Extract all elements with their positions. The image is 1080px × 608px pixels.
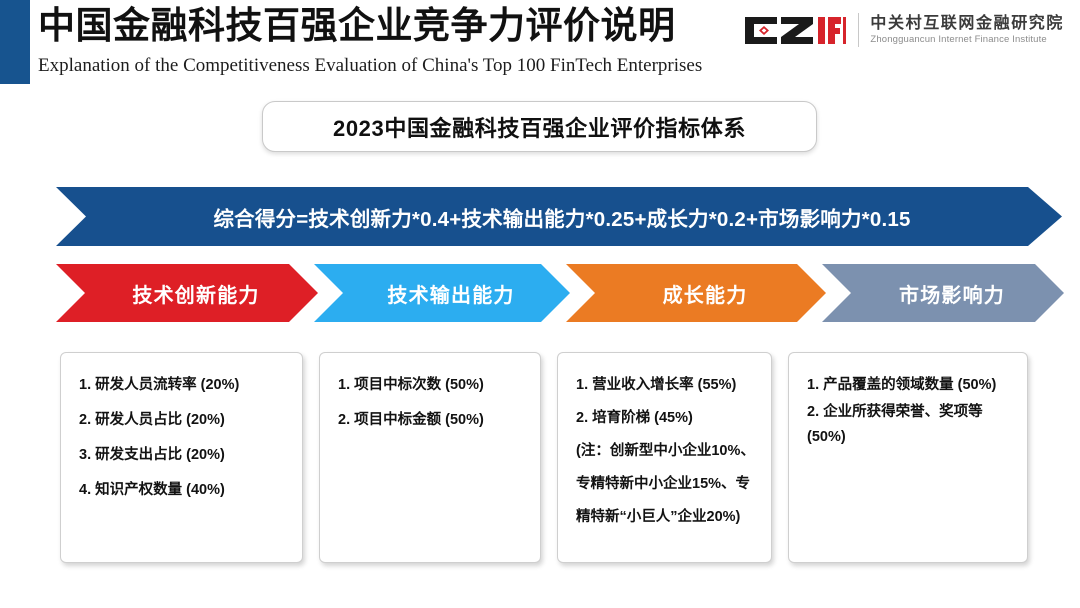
dimension-chevron-market-influence[interactable]: 市场影响力 <box>822 264 1064 322</box>
logo-divider <box>858 13 859 47</box>
detail-line: (注：创新型中小企业10%、 <box>576 443 755 460</box>
page-title: 中国金融科技百强企业竞争力评价说明 <box>38 4 738 50</box>
detail-line: 3. 研发支出占比 (20%) <box>79 447 286 464</box>
dimension-label: 技术创新能力 <box>132 279 259 308</box>
detail-line: 1. 研发人员流转率 (20%) <box>79 377 286 394</box>
dimension-label: 成长能力 <box>663 279 748 308</box>
index-system-title-box: 2023中国金融科技百强企业评价指标体系 <box>262 101 817 152</box>
header-title-group: 中国金融科技百强企业竞争力评价说明 Explanation of the Com… <box>38 4 738 79</box>
detail-line: 1. 项目中标次数 (50%) <box>338 377 524 394</box>
detail-line: 2. 培育阶梯 (45%) <box>576 410 755 427</box>
detail-line: (50%) <box>807 429 1011 446</box>
header-accent-bar <box>0 0 30 84</box>
composite-score-formula-banner: 综合得分=技术创新力*0.4+技术输出能力*0.25+成长力*0.2+市场影响力… <box>56 187 1062 246</box>
index-system-title: 2023中国金融科技百强企业评价指标体系 <box>333 111 746 143</box>
detail-line: 4. 知识产权数量 (40%) <box>79 482 286 499</box>
page-subtitle: Explanation of the Competitiveness Evalu… <box>38 53 738 79</box>
institute-logo: 中关村互联网金融研究院 Zhongguancun Internet Financ… <box>743 10 1064 50</box>
dimension-chevron-growth[interactable]: 成长能力 <box>566 264 826 322</box>
logo-text-block: 中关村互联网金融研究院 Zhongguancun Internet Financ… <box>870 14 1064 46</box>
detail-box-growth: 1. 营业收入增长率 (55%)2. 培育阶梯 (45%)(注：创新型中小企业1… <box>557 352 772 563</box>
detail-line: 2. 企业所获得荣誉、奖项等 <box>807 404 1011 421</box>
detail-line: 1. 产品覆盖的领域数量 (50%) <box>807 377 1011 394</box>
detail-line: 2. 研发人员占比 (20%) <box>79 412 286 429</box>
detail-line: 2. 项目中标金额 (50%) <box>338 412 524 429</box>
detail-box-tech-innovation: 1. 研发人员流转率 (20%)2. 研发人员占比 (20%)3. 研发支出占比… <box>60 352 303 563</box>
dimension-chevron-row: 技术创新能力 技术输出能力 成长能力 市场影响力 <box>56 264 1064 322</box>
detail-box-tech-output: 1. 项目中标次数 (50%)2. 项目中标金额 (50%) <box>319 352 541 563</box>
detail-box-market-influence: 1. 产品覆盖的领域数量 (50%)2. 企业所获得荣誉、奖项等(50%) <box>788 352 1028 563</box>
detail-line: 专精特新中小企业15%、专 <box>576 476 755 493</box>
dimension-chevron-tech-output[interactable]: 技术输出能力 <box>314 264 570 322</box>
czifi-logo-icon <box>743 15 846 46</box>
detail-line: 精特新“小巨人”企业20%) <box>576 509 755 526</box>
composite-score-formula-text: 综合得分=技术创新力*0.4+技术输出能力*0.25+成长力*0.2+市场影响力… <box>213 202 910 232</box>
dimension-chevron-tech-innovation[interactable]: 技术创新能力 <box>56 264 318 322</box>
dimension-label: 技术输出能力 <box>387 279 514 308</box>
detail-line: 1. 营业收入增长率 (55%) <box>576 377 755 394</box>
dimension-label: 市场影响力 <box>899 279 1005 308</box>
logo-name-en: Zhongguancun Internet Finance Institute <box>870 33 1064 46</box>
logo-name-cn: 中关村互联网金融研究院 <box>870 14 1064 33</box>
